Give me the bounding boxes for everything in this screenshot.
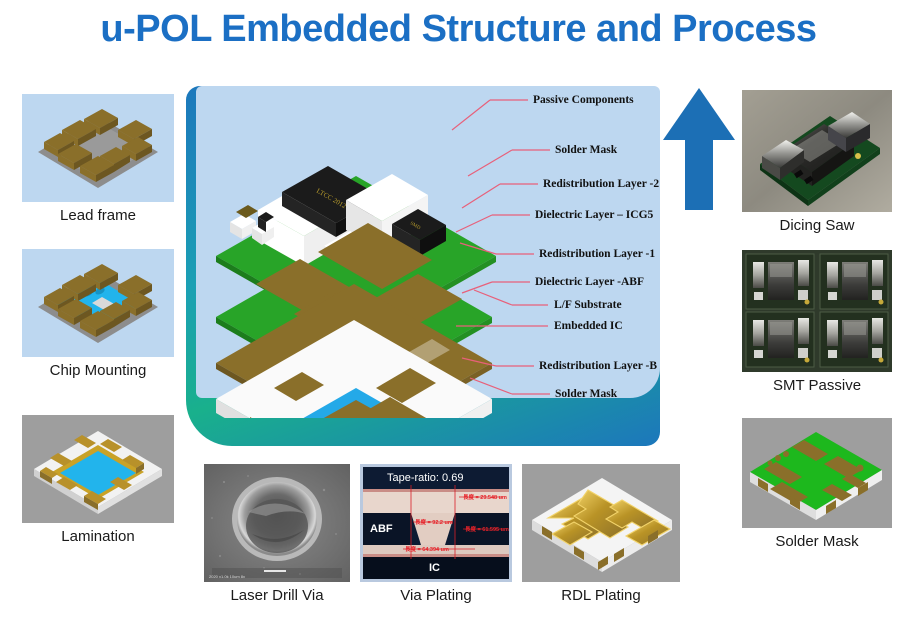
smt-passive-caption: SMT Passive bbox=[742, 372, 892, 394]
solder-mask-caption: Solder Mask bbox=[742, 528, 892, 550]
process-step-chip-mounting[interactable]: Chip Mounting bbox=[22, 249, 174, 379]
process-step-solder-mask[interactable]: Solder Mask bbox=[742, 418, 892, 550]
tape-ratio-label: Tape-ratio: 0.69 bbox=[387, 472, 463, 484]
measurement-2: 長度 = 92.2 um bbox=[415, 518, 453, 526]
measurement-1: 長度 = 29.548 um bbox=[463, 493, 507, 501]
dicing-saw-photo-render bbox=[742, 90, 892, 212]
lead-frame-caption: Lead frame bbox=[22, 202, 174, 224]
process-step-smt-passive[interactable]: SMT Passive bbox=[742, 250, 892, 394]
laser-drill-via-caption: Laser Drill Via bbox=[204, 582, 350, 604]
solder-mask-image bbox=[742, 418, 892, 528]
measurement-3: 長度 = 61.595 um bbox=[465, 525, 509, 533]
process-step-lead-frame[interactable]: Lead frame bbox=[22, 94, 174, 224]
callout-rdl2: Redistribution Layer -2 bbox=[543, 178, 659, 190]
dicing-saw-caption: Dicing Saw bbox=[742, 212, 892, 234]
solder-mask-render bbox=[742, 418, 892, 528]
process-step-laser-drill-via[interactable]: 2020 x1.0k 10um 8x Laser Drill Via bbox=[204, 464, 350, 604]
callout-embedded-ic: Embedded IC bbox=[554, 320, 623, 332]
dicing-saw-image bbox=[742, 90, 892, 212]
chip-mounting-render bbox=[22, 249, 174, 357]
abf-label: ABF bbox=[370, 523, 393, 535]
lead-frame-image bbox=[22, 94, 174, 202]
exploded-package-stack: LTCC 2012 SMD bbox=[196, 88, 536, 418]
callout-lf-substrate: L/F Substrate bbox=[554, 299, 622, 311]
process-step-via-plating[interactable]: Tape-ratio: 0.69 ABF IC 長度 = 29.548 um 長… bbox=[360, 464, 512, 604]
process-step-dicing-saw[interactable]: Dicing Saw bbox=[742, 90, 892, 234]
lamination-image bbox=[22, 415, 174, 523]
sem-scalebar-text: 2020 x1.0k 10um 8x bbox=[209, 574, 245, 579]
rdl-plating-caption: RDL Plating bbox=[522, 582, 680, 604]
lamination-caption: Lamination bbox=[22, 523, 174, 545]
process-flow-arrow-icon bbox=[663, 88, 735, 210]
laser-drill-via-image: 2020 x1.0k 10um 8x bbox=[204, 464, 350, 582]
callout-rdl1: Redistribution Layer -1 bbox=[539, 248, 655, 260]
via-plating-cross-section: Tape-ratio: 0.69 ABF IC 長度 = 29.548 um 長… bbox=[363, 467, 509, 579]
callout-dielectric-icg5: Dielectric Layer – ICG5 bbox=[535, 209, 653, 221]
smt-passive-photo-render bbox=[742, 250, 892, 372]
process-step-rdl-plating[interactable]: RDL Plating bbox=[522, 464, 680, 604]
ic-label: IC bbox=[429, 562, 440, 574]
page-title: u-POL Embedded Structure and Process bbox=[0, 8, 917, 51]
rdl-plating-image bbox=[522, 464, 680, 582]
rdl-plating-render bbox=[522, 464, 680, 582]
sem-micrograph-render bbox=[204, 464, 350, 582]
measurement-4: 長度 = 64.394 um bbox=[405, 545, 449, 553]
chip-mounting-image bbox=[22, 249, 174, 357]
callout-dielectric-abf: Dielectric Layer -ABF bbox=[535, 276, 644, 288]
via-plating-caption: Via Plating bbox=[360, 582, 512, 604]
callout-solder-mask-top: Solder Mask bbox=[555, 144, 617, 156]
via-plating-image: Tape-ratio: 0.69 ABF IC 長度 = 29.548 um 長… bbox=[360, 464, 512, 582]
lead-frame-render bbox=[22, 94, 174, 202]
process-step-lamination[interactable]: Lamination bbox=[22, 415, 174, 545]
callout-rdlb: Redistribution Layer -B bbox=[539, 360, 657, 372]
callout-passive-components: Passive Components bbox=[533, 94, 634, 106]
lamination-render bbox=[22, 415, 174, 523]
callout-solder-mask-bottom: Solder Mask bbox=[555, 388, 617, 400]
smt-passive-image bbox=[742, 250, 892, 372]
chip-mounting-caption: Chip Mounting bbox=[22, 357, 174, 379]
